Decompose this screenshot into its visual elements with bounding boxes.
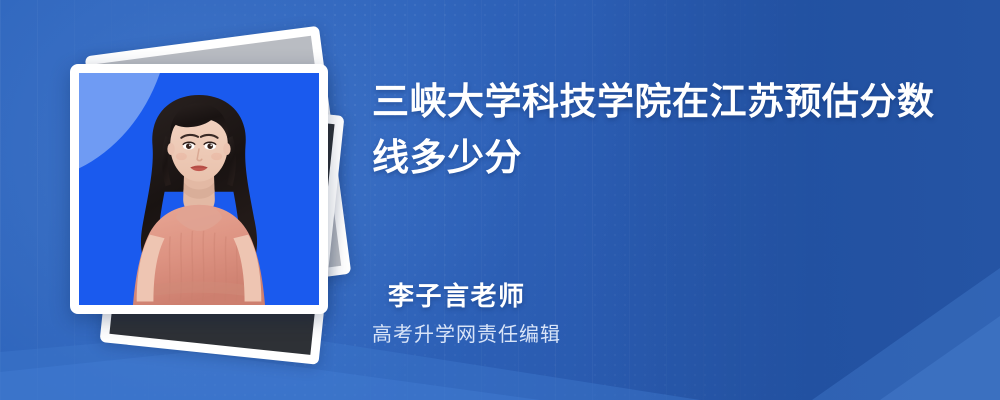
author-role: 高考升学网责任编辑 [372, 318, 561, 347]
text-block: 三峡大学科技学院在江苏预估分数线多少分 李子言老师 高考升学网责任编辑 [372, 0, 972, 400]
author-name: 李子言老师 [388, 281, 526, 311]
photo-card-stack [0, 0, 400, 400]
promo-banner: 三峡大学科技学院在江苏预估分数线多少分 李子言老师 高考升学网责任编辑 [0, 0, 1000, 400]
photo-card-main [70, 64, 328, 314]
byline: 李子言老师 [388, 276, 526, 313]
article-title: 三峡大学科技学院在江苏预估分数线多少分 [372, 74, 952, 186]
portrait-photo [79, 73, 319, 305]
